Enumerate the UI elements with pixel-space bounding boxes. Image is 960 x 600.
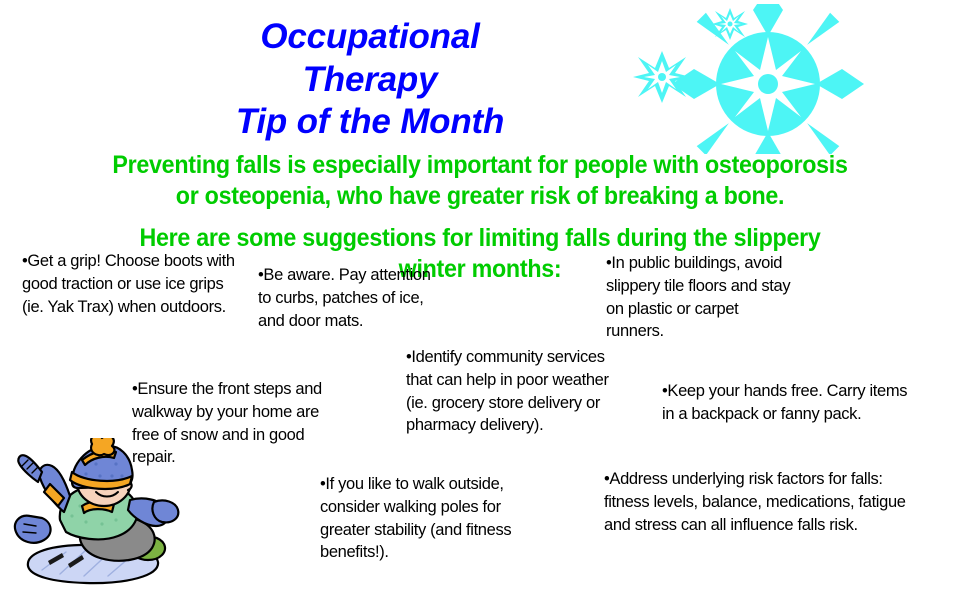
intro-paragraph-2-line-1: Here are some suggestions for limiting f…: [54, 223, 906, 254]
page-title-line-2: Therapy: [120, 59, 620, 102]
tip-keep-hands-free: •Keep your hands free. Carry items in a …: [662, 380, 912, 426]
page-title-line-1: Occupational: [120, 16, 620, 59]
tip-risk-factors: •Address underlying risk factors for fal…: [604, 468, 924, 536]
poster-canvas: Occupational Therapy Tip of the Month Pr…: [0, 0, 960, 600]
right-mitten: [152, 500, 178, 522]
snowflake-cluster-icon: [620, 4, 890, 154]
left-hand: [18, 455, 42, 482]
tip-public-buildings: •In public buildings, avoid slippery til…: [606, 252, 796, 343]
tip-community-services: •Identify community services that can he…: [406, 346, 626, 437]
page-title-line-3: Tip of the Month: [120, 101, 620, 144]
intro-paragraph-1-line-2: or osteopenia, who have greater risk of …: [54, 181, 906, 212]
tip-be-aware: •Be aware. Pay attention to curbs, patch…: [258, 264, 443, 332]
intro-paragraph-1: Preventing falls is especially important…: [54, 150, 906, 211]
intro-paragraph-1-line-1: Preventing falls is especially important…: [54, 150, 906, 181]
tip-get-a-grip: •Get a grip! Choose boots with good trac…: [22, 250, 237, 318]
lower-left-mitten: [15, 516, 51, 543]
person-slipping-on-ice-icon: [8, 438, 193, 600]
tip-walking-poles: •If you like to walk outside, consider w…: [320, 473, 530, 564]
pompom: [91, 438, 114, 455]
page-title: Occupational Therapy Tip of the Month: [120, 16, 620, 144]
